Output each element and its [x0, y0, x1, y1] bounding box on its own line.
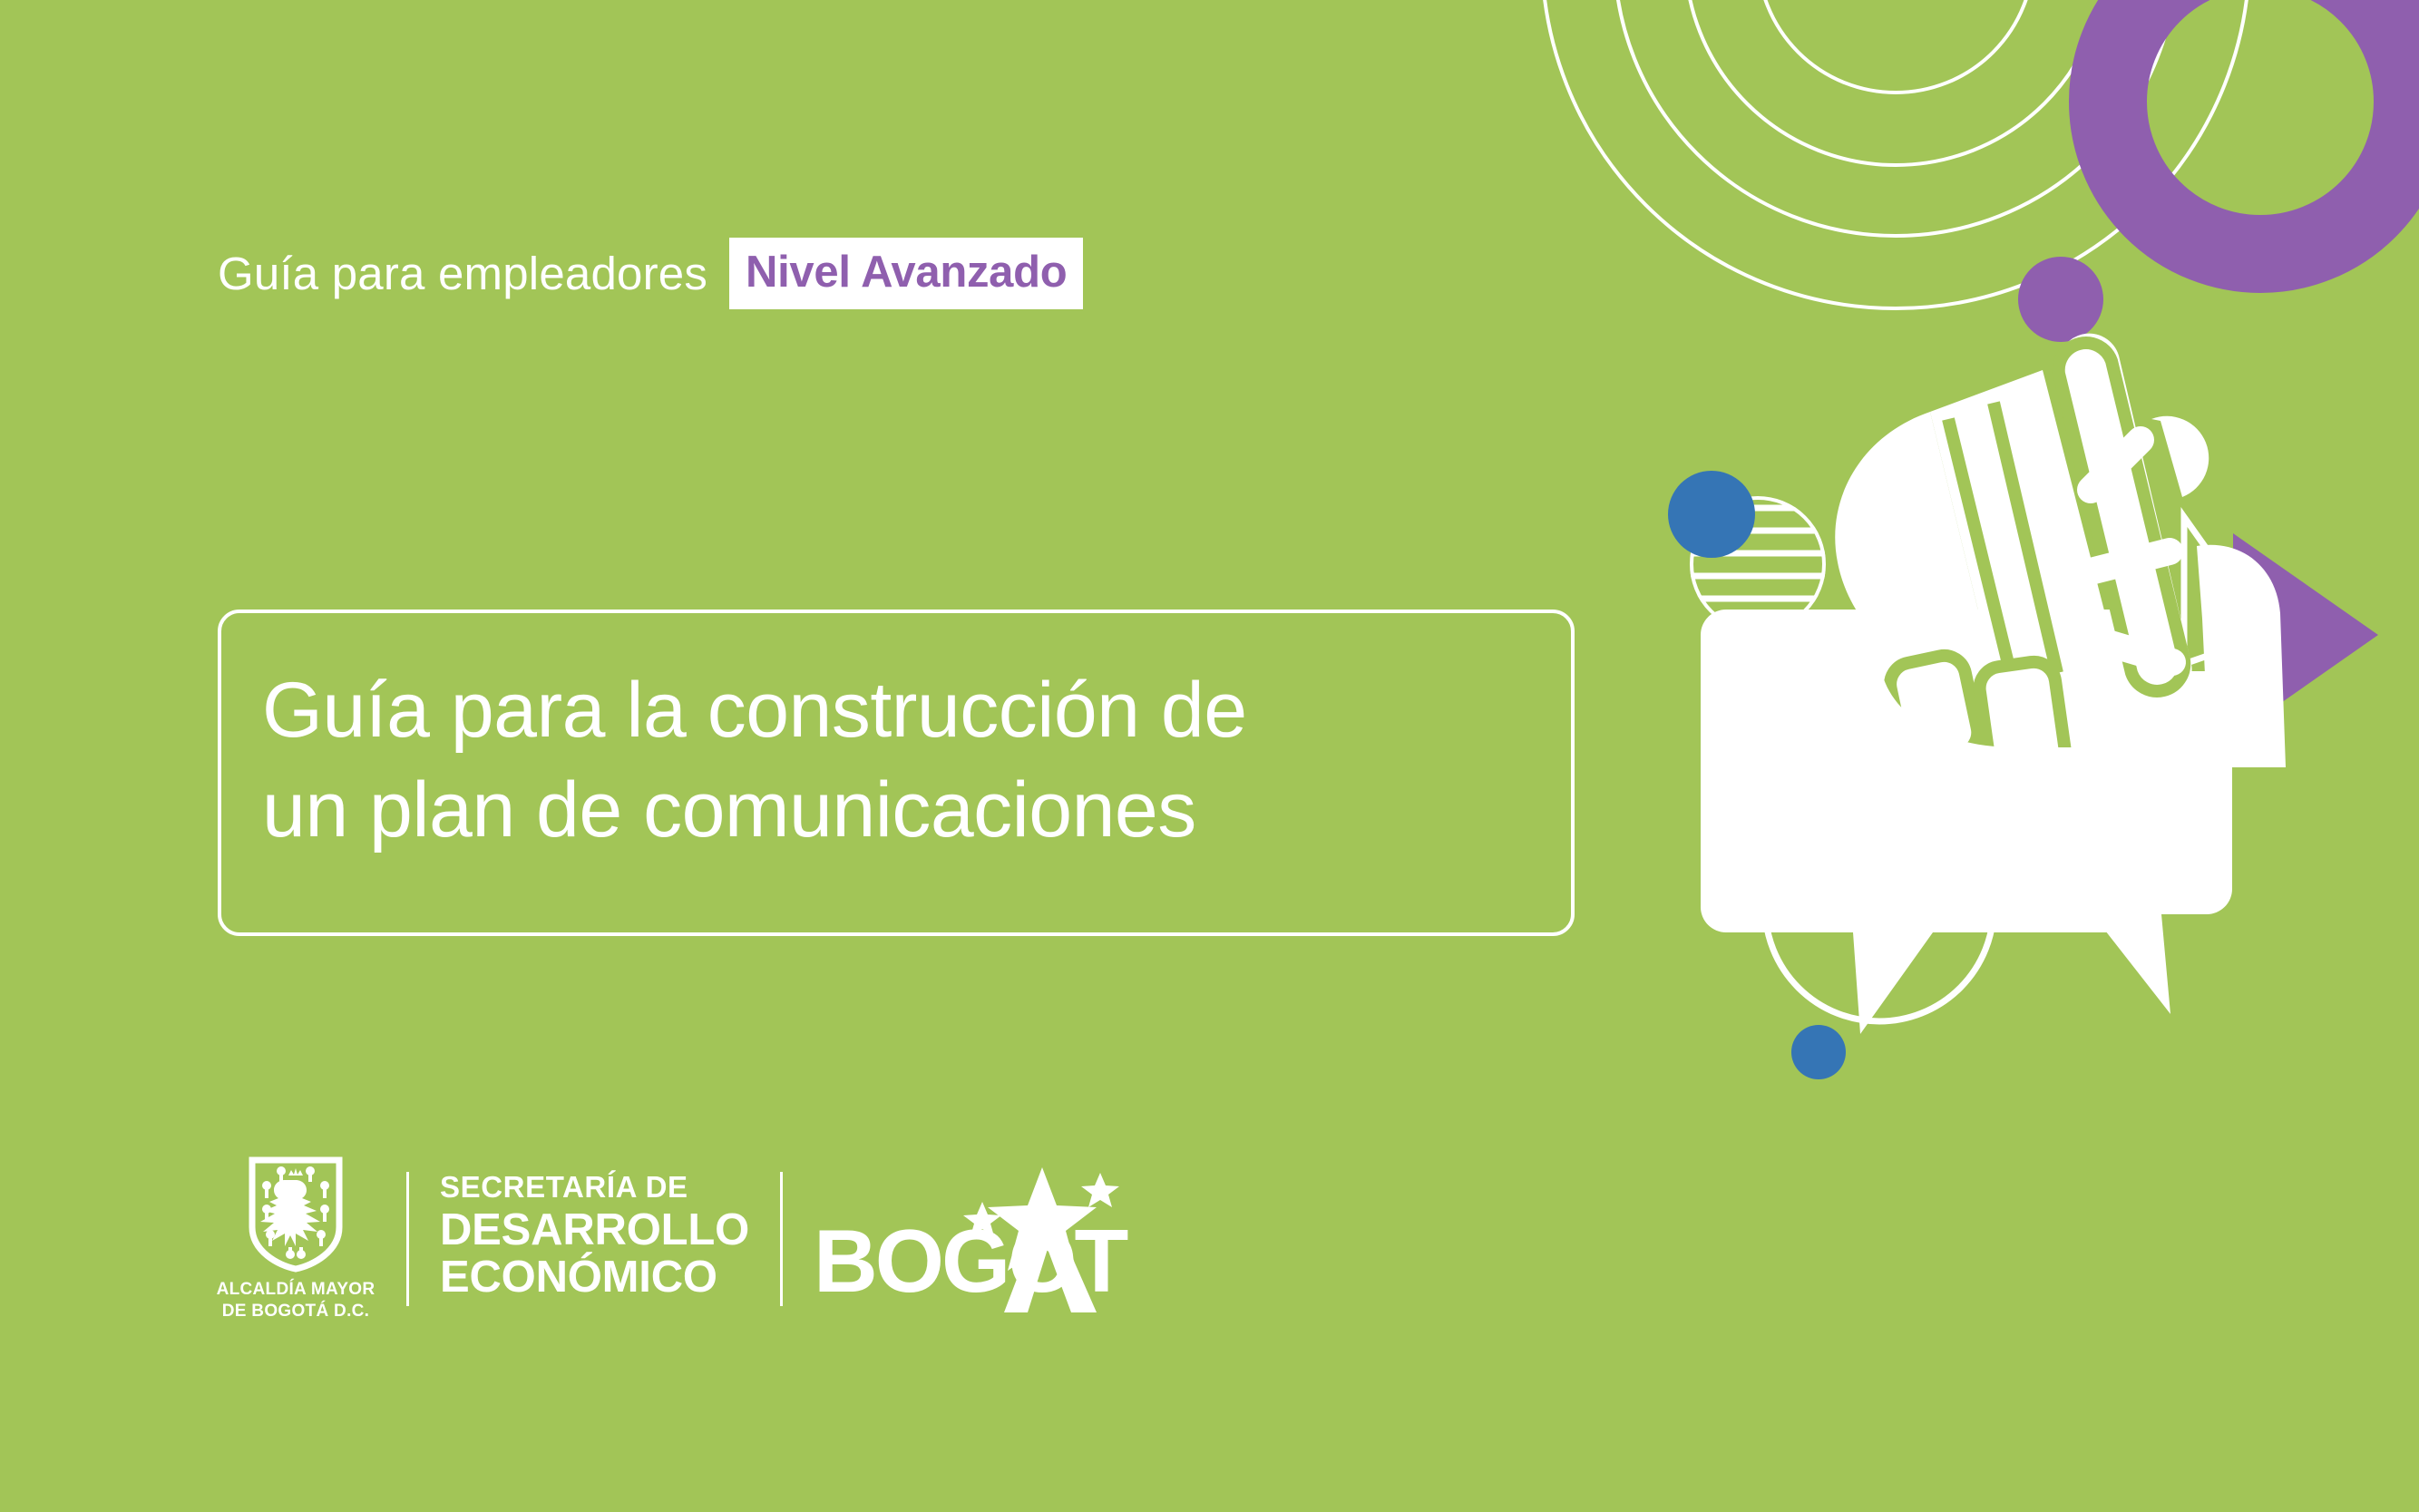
alcaldia-label: ALCALDÍA MAYOR DE BOGOTÁ D.C. [217, 1279, 376, 1322]
speech-bubble-right [1833, 671, 2232, 1014]
white-outline-circle [1765, 793, 1994, 1021]
header-eyebrow: Guía para empleadores Nivel Avanzado [218, 238, 1083, 309]
striped-circle [1685, 498, 1830, 630]
bogota-logo: BOGOT [814, 1162, 1122, 1316]
purple-triangle [2233, 533, 2378, 736]
purple-dot [2018, 257, 2103, 342]
level-badge: Nivel Avanzado [729, 238, 1083, 309]
secretaria-line-1: SECRETARÍA DE [440, 1172, 749, 1203]
alcaldia-logo: ALCALDÍA MAYOR DE BOGOTÁ D.C. [216, 1156, 376, 1322]
cover-page: Guía para empleadores Nivel Avanzado Guí… [0, 0, 2419, 1512]
page-title: Guía para la construcción de un plan de … [262, 660, 1247, 860]
eyebrow-label: Guía para empleadores [218, 250, 729, 297]
logo-divider-2 [780, 1172, 783, 1306]
white-outline-triangle [2184, 517, 2268, 664]
megaphone-icon [1829, 334, 2286, 798]
footer-logos: ALCALDÍA MAYOR DE BOGOTÁ D.C. SECRETARÍA… [216, 1157, 1122, 1321]
title-box: Guía para la construcción de un plan de … [218, 610, 1575, 936]
speech-bubble-left [1701, 610, 2140, 1034]
blue-circle-small [1791, 1025, 1846, 1079]
concentric-arcs-icon [1542, 0, 2249, 308]
secretaria-line-3: ECONÓMICO [440, 1255, 749, 1301]
sound-ray-icons [2091, 440, 2172, 662]
blue-circle-large [1668, 471, 1755, 558]
logo-divider-1 [406, 1172, 409, 1306]
secretaria-logo: SECRETARÍA DE DESARROLLO ECONÓMICO [440, 1172, 749, 1306]
bogota-coat-of-arms-icon [247, 1156, 345, 1273]
secretaria-line-2: DESARROLLO [440, 1208, 749, 1253]
purple-ring-arc [2108, 0, 2413, 254]
bogota-star-icon [814, 1162, 1122, 1316]
